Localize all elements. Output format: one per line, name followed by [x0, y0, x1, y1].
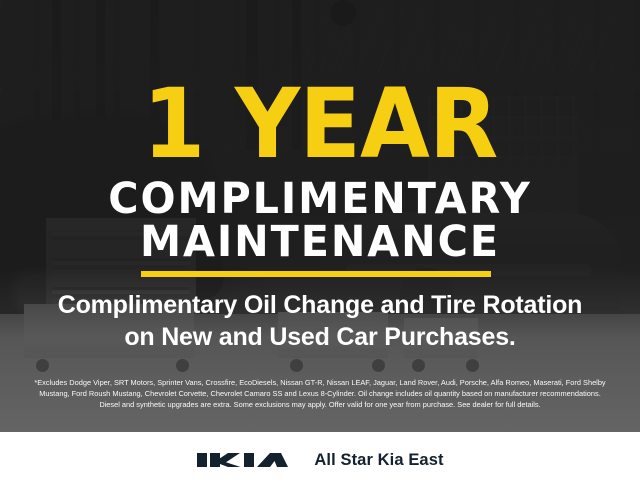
footer-bar: All Star Kia East [0, 432, 640, 488]
headline-complimentary: COMPLIMENTARY [13, 178, 627, 222]
yellow-divider-rule [141, 271, 491, 277]
offer-subheadline: Complimentary Oil Change and Tire Rotati… [14, 289, 626, 353]
kia-logo [196, 447, 288, 473]
disclaimer-line-2: Mustang, Ford Roush Mustang, Chevrolet C… [14, 388, 626, 399]
headline-maintenance: MAINTENANCE [13, 221, 627, 265]
headline-one-year: 1 YEAR [19, 78, 621, 170]
disclaimer-line-3: Diesel and synthetic upgrades are extra.… [14, 399, 626, 410]
offer-subheadline-line-1: Complimentary Oil Change and Tire Rotati… [14, 289, 626, 321]
offer-subheadline-line-2: on New and Used Car Purchases. [14, 321, 626, 353]
dealer-name: All Star Kia East [314, 451, 443, 470]
banner-content: 1 YEAR COMPLIMENTARY MAINTENANCE Complim… [0, 0, 640, 432]
disclaimer-text: *Excludes Dodge Viper, SRT Motors, Sprin… [14, 377, 626, 410]
disclaimer-line-1: *Excludes Dodge Viper, SRT Motors, Sprin… [14, 377, 626, 388]
promotional-banner: 1 YEAR COMPLIMENTARY MAINTENANCE Complim… [0, 0, 640, 488]
